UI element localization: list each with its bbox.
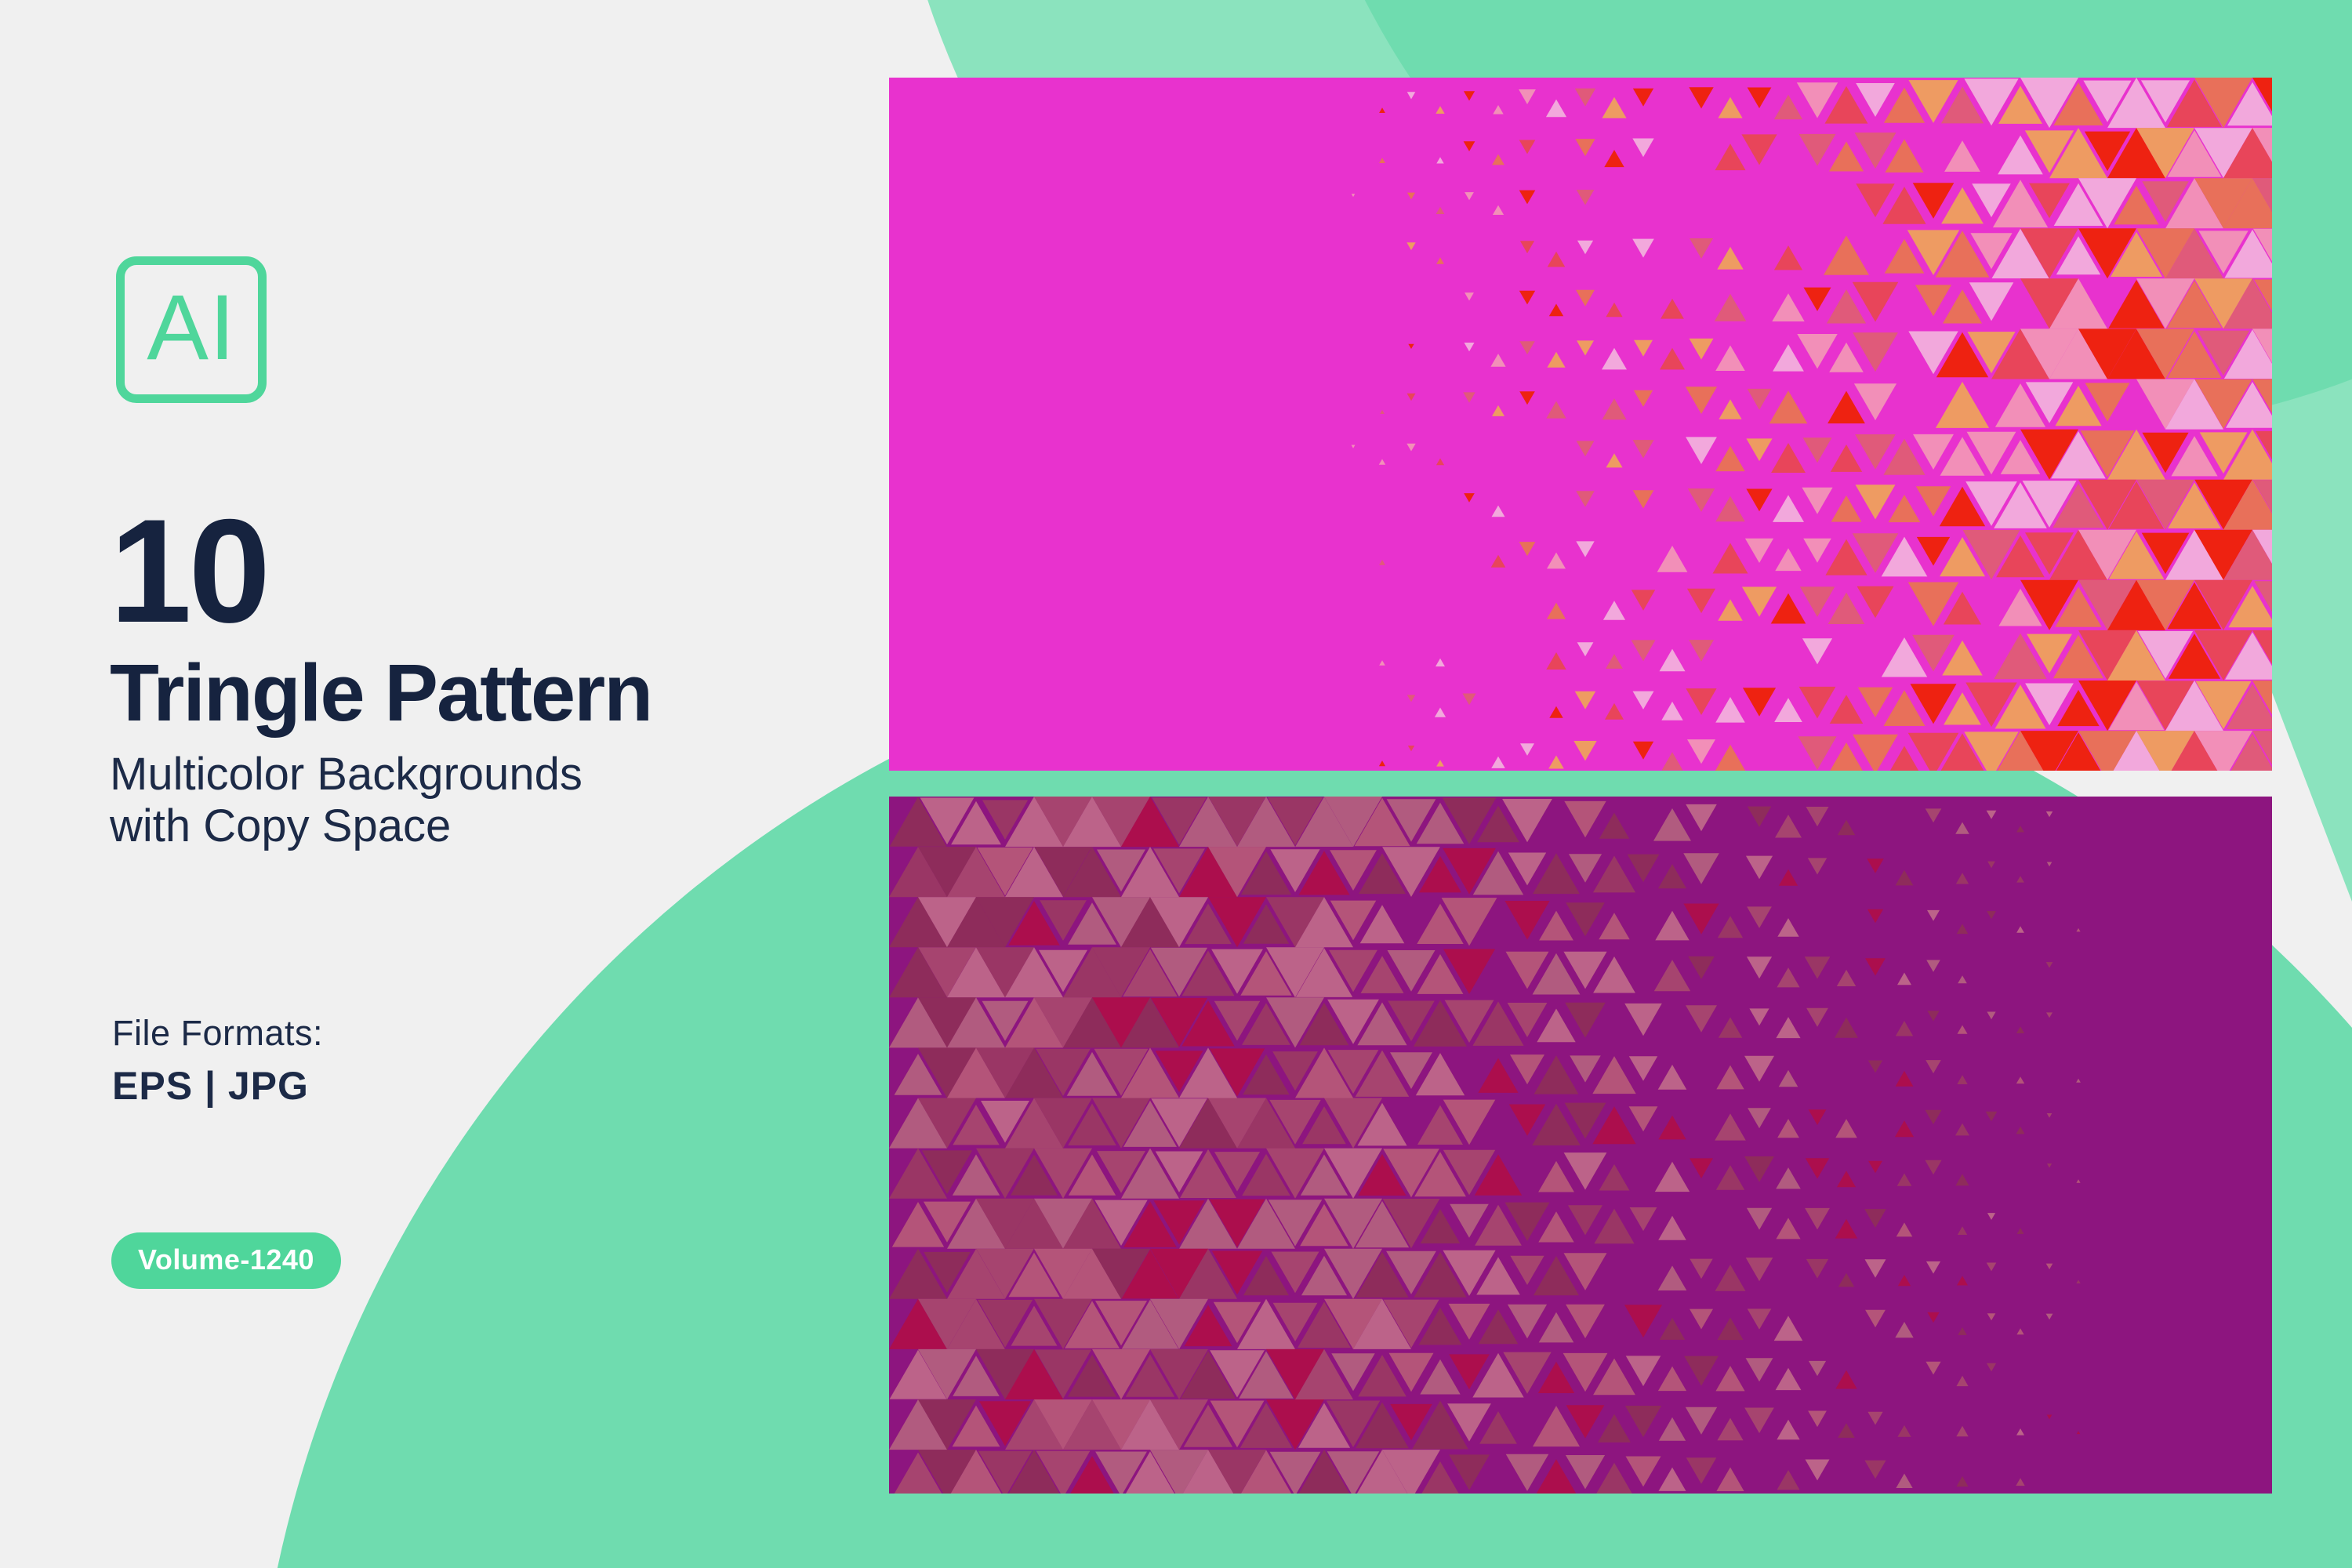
page-title: Tringle Pattern (110, 652, 862, 733)
preview-bottom-pattern (889, 797, 2272, 1494)
ai-badge-label: AI (125, 265, 258, 394)
preview-top-pattern (889, 78, 2272, 771)
page-subtitle-line-2: with Copy Space (110, 800, 784, 853)
preview-top[interactable] (889, 78, 2272, 771)
file-formats-block: File Formats: EPS | JPG (112, 1011, 323, 1111)
file-formats-label: File Formats: (112, 1011, 323, 1055)
volume-badge: Volume-1240 (111, 1232, 341, 1289)
adobe-illustrator-badge-icon: AI (116, 256, 267, 403)
pattern-count: 10 (110, 508, 862, 635)
page-subtitle-line-1: Multicolor Backgrounds (110, 749, 784, 801)
preview-bottom[interactable] (889, 797, 2272, 1494)
page-subtitle: Multicolor Backgrounds with Copy Space (110, 749, 784, 853)
copy-block: 10 Tringle Pattern Multicolor Background… (110, 508, 862, 853)
poster-canvas: AI 10 Tringle Pattern Multicolor Backgro… (0, 0, 2352, 1568)
file-formats-value: EPS | JPG (112, 1062, 323, 1111)
